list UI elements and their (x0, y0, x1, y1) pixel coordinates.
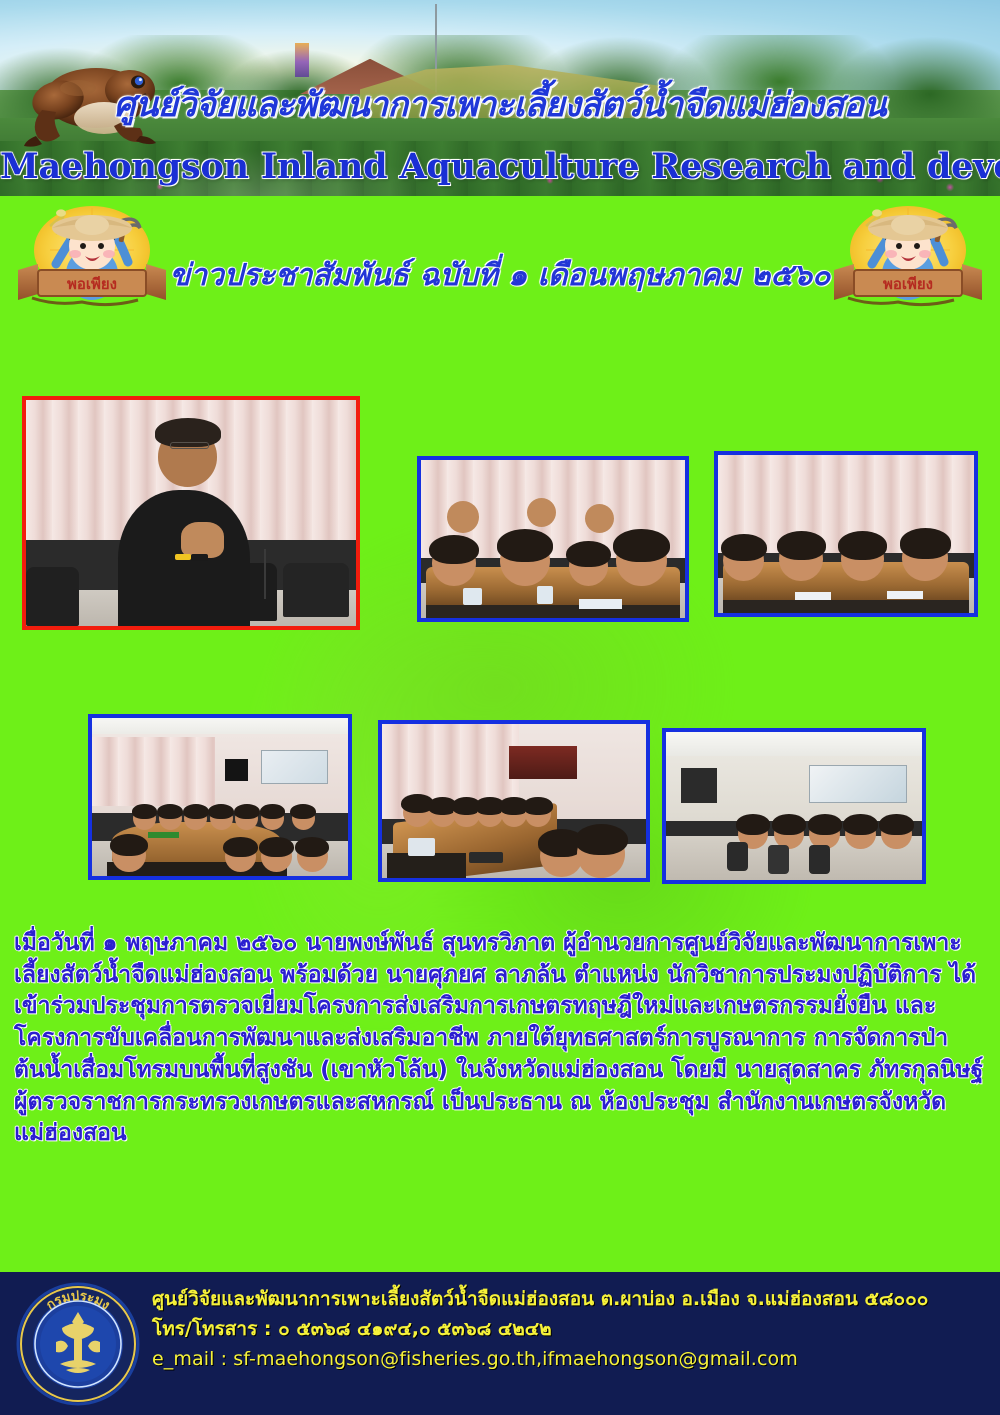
footer-divider (0, 1265, 1000, 1272)
footer-contact-block: ศูนย์วิจัยและพัฒนาการเพาะเลี้ยงสัตว์น้ำจ… (152, 1284, 990, 1374)
department-of-fisheries-logo-icon: กรมประมง (16, 1282, 140, 1406)
page-title-english: Maehongson Inland Aquaculture Research a… (0, 146, 1000, 187)
banner-flag (295, 43, 309, 77)
footer-phone: โทร/โทรสาร : ๐ ๕๓๖๘ ๔๑๙๔,๐ ๕๓๖๘ ๔๒๔๒ (152, 1314, 990, 1344)
footer-address: ศูนย์วิจัยและพัฒนาการเพาะเลี้ยงสัตว์น้ำจ… (152, 1284, 990, 1314)
page-title-thai: ศูนย์วิจัยและพัฒนาการเพาะเลี้ยงสัตว์น้ำจ… (0, 88, 1000, 124)
newsletter-issue-subtitle: ข่าวประชาสัมพันธ์ ฉบับที่ ๑ เดือนพฤษภาคม… (0, 252, 1000, 299)
footer-email[interactable]: e_mail : sf-maehongson@fisheries.go.th,i… (152, 1344, 990, 1374)
newsletter-poster: ศูนย์วิจัยและพัฒนาการเพาะเลี้ยงสัตว์น้ำจ… (0, 0, 1000, 1415)
gallery-photo-6[interactable] (662, 728, 926, 884)
article-paragraph: เมื่อวันที่ ๑ พฤษภาคม ๒๕๖๐ นายพงษ์พันธ์ … (14, 928, 986, 1150)
gallery-photo-2[interactable] (417, 456, 689, 622)
article-body: เมื่อวันที่ ๑ พฤษภาคม ๒๕๖๐ นายพงษ์พันธ์ … (14, 928, 986, 1150)
gallery-photo-1[interactable] (22, 396, 360, 630)
gallery-photo-3[interactable] (714, 451, 978, 617)
gallery-photo-4[interactable] (88, 714, 352, 880)
gallery-photo-5[interactable] (378, 720, 650, 882)
footer-bar: กรมประมง ศูนย์วิจัยและพัฒนาการเพาะเลี้ยง… (0, 1272, 1000, 1415)
